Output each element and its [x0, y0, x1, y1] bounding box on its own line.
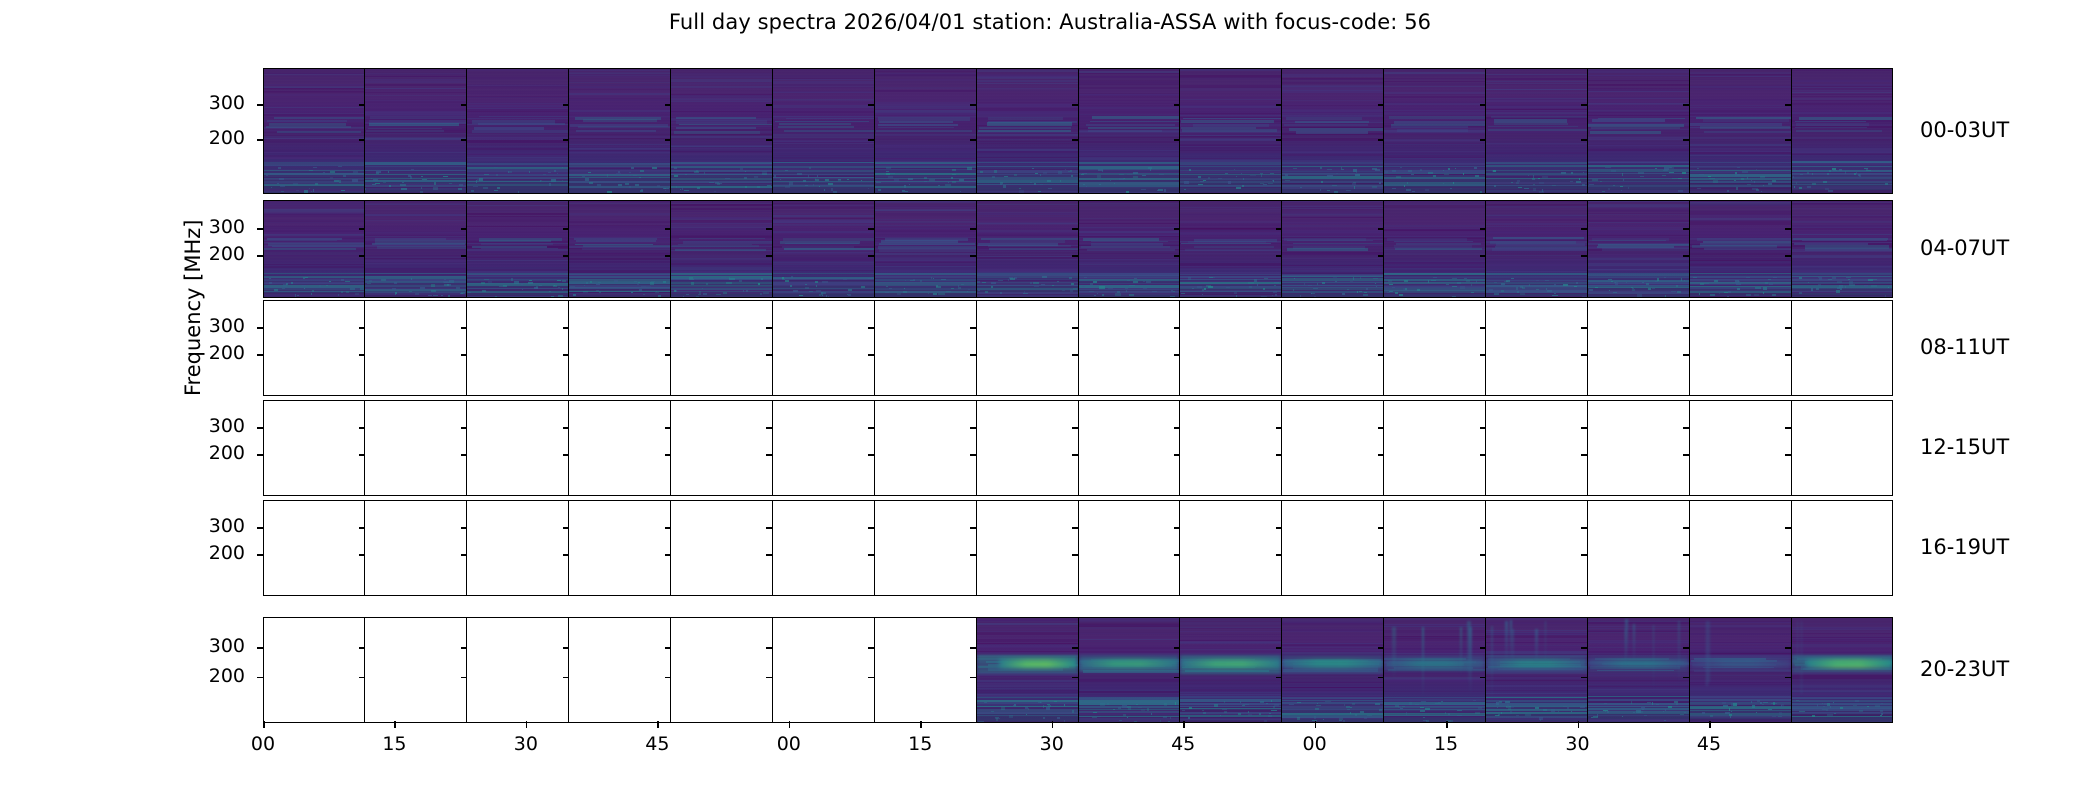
panel-boundary-y-tick	[563, 354, 569, 356]
spectrogram-panel[interactable]	[1079, 400, 1181, 496]
spectrogram-speckle	[1168, 721, 1170, 723]
spectrogram-panel[interactable]	[365, 500, 467, 596]
y-tick-label: 300	[185, 92, 245, 114]
spectrogram-speckle	[1554, 293, 1555, 295]
spectrogram-speckle	[1014, 704, 1016, 707]
spectrogram-speckle	[562, 180, 563, 181]
spectrogram-panel[interactable]	[1384, 200, 1486, 298]
spectrogram-background	[263, 68, 364, 194]
spectrogram-panel[interactable]	[1486, 68, 1588, 194]
spectrogram-speckle	[1308, 285, 1312, 286]
spectrogram-speckle	[822, 281, 827, 283]
spectrogram-speckle	[991, 711, 994, 712]
spectrogram-speckle	[1552, 295, 1557, 296]
spectrogram-panel[interactable]	[1282, 200, 1384, 298]
spectrogram-speckle	[1576, 282, 1577, 284]
spectrogram-panel[interactable]	[569, 617, 671, 723]
spectrogram-speckle	[1880, 710, 1883, 712]
x-tick-label: 00	[1290, 733, 1340, 755]
spectrogram-speckle	[1794, 186, 1795, 188]
spectrogram-speckle	[725, 178, 730, 179]
spectrogram-image	[1180, 68, 1281, 194]
spectrogram-speckle	[1505, 701, 1510, 704]
subplot-row-16-19ut[interactable]	[263, 500, 1893, 596]
spectrogram-speckle	[760, 293, 761, 295]
spectrogram-panel[interactable]	[1690, 68, 1792, 194]
spectrogram-panel[interactable]	[365, 300, 467, 396]
spectrogram-speckle	[495, 296, 497, 297]
spectrogram-image	[875, 200, 976, 298]
spectrogram-speckle	[372, 184, 376, 185]
spectrogram-speckle	[1054, 701, 1057, 702]
spectrogram-panel[interactable]	[977, 68, 1079, 194]
spectrogram-speckle	[1632, 288, 1634, 290]
spectrogram-panel[interactable]	[1588, 200, 1690, 298]
spectrogram-panel[interactable]	[1690, 300, 1792, 396]
spectrogram-speckle	[1392, 287, 1395, 288]
spectrogram-panel[interactable]	[977, 200, 1079, 298]
spectrogram-speckle	[1189, 169, 1191, 171]
spectrogram-speckle	[799, 295, 802, 296]
spectrogram-speckle	[952, 174, 956, 176]
spectrogram-speckle	[562, 280, 566, 282]
spectrogram-speckle	[1019, 188, 1021, 189]
spectrogram-panel[interactable]	[671, 200, 773, 298]
spectrogram-speckle	[1366, 288, 1368, 290]
spectrogram-speckle	[1236, 295, 1237, 297]
spectrogram-panel[interactable]	[467, 500, 569, 596]
panel-boundary-y-tick	[359, 255, 365, 257]
spectrogram-panel[interactable]	[773, 68, 875, 194]
spectrogram-speckle	[886, 171, 890, 172]
spectrogram-speckle	[1073, 288, 1077, 290]
spectrogram-panel[interactable]	[1079, 200, 1181, 298]
spectrogram-speckle	[1198, 184, 1203, 185]
spectrogram-speckle	[1082, 173, 1087, 175]
spectrogram-speckle	[1840, 288, 1842, 290]
spectrogram-panel[interactable]	[1792, 300, 1893, 396]
spectrogram-speckle	[1608, 279, 1612, 280]
spectrogram-panel[interactable]	[365, 400, 467, 496]
spectrogram-speckle	[1225, 173, 1228, 175]
spectrogram-panel[interactable]	[1079, 68, 1181, 194]
spectrogram-panel[interactable]	[1282, 617, 1384, 723]
spectrogram-speckle	[1311, 293, 1315, 294]
spectrogram-panel[interactable]	[1384, 400, 1486, 496]
spectrogram-panel[interactable]	[875, 68, 977, 194]
spectrogram-panel[interactable]	[263, 200, 365, 298]
spectrogram-panel[interactable]	[1079, 500, 1181, 596]
broadband-burst	[1510, 620, 1512, 662]
spectrogram-speckle	[1119, 720, 1122, 721]
spectrogram-speckle	[848, 294, 850, 295]
spectrogram-panel[interactable]	[1792, 200, 1893, 298]
spectrogram-speckle	[1697, 168, 1699, 169]
spectrogram-panel[interactable]	[1792, 68, 1893, 194]
spectrogram-speckle	[998, 280, 1003, 281]
spectrogram-speckle	[1756, 712, 1757, 713]
spectrogram-panel[interactable]	[773, 300, 875, 396]
spectrogram-speckle	[1633, 712, 1635, 714]
spectrogram-image	[1588, 200, 1689, 298]
subplot-row-04-07ut[interactable]	[263, 200, 1893, 298]
panel-boundary-y-tick	[1174, 139, 1180, 141]
spectrogram-speckle	[1355, 714, 1357, 716]
spectrogram-panel[interactable]	[1180, 400, 1282, 496]
spectrogram-panel[interactable]	[977, 300, 1079, 396]
spectrogram-speckle	[817, 175, 818, 176]
spectrogram-speckle	[1823, 706, 1825, 707]
spectrogram-panel[interactable]	[1792, 500, 1893, 596]
panel-boundary-y-tick	[1276, 427, 1282, 429]
spectrogram-speckle	[596, 284, 601, 285]
spectrogram-speckle	[461, 292, 465, 294]
spectrogram-speckle	[1327, 175, 1332, 177]
spectrogram-speckle	[375, 183, 379, 184]
panel-boundary-y-tick	[1174, 554, 1180, 556]
spectrogram-speckle	[1268, 715, 1272, 717]
spectrogram-speckle	[1261, 174, 1262, 177]
spectrogram-panel[interactable]	[1180, 500, 1282, 596]
panel-boundary-y-tick	[1378, 255, 1384, 257]
panel-boundary-y-tick	[1581, 104, 1587, 106]
y-tick-label: 200	[185, 127, 245, 149]
spectrogram-panel[interactable]	[1180, 68, 1282, 194]
spectrogram-panel[interactable]	[875, 200, 977, 298]
subplot-row-20-23ut[interactable]	[263, 617, 1893, 723]
spectrogram-speckle	[1408, 170, 1412, 172]
spectrogram-speckle	[1724, 292, 1728, 293]
spectrogram-panel[interactable]	[1690, 200, 1792, 298]
panel-boundary-y-tick	[766, 228, 772, 230]
spectrogram-speckle	[1200, 181, 1204, 182]
spectrogram-panel[interactable]	[569, 68, 671, 194]
spectrogram-panel[interactable]	[1282, 300, 1384, 396]
spectrogram-speckle	[1768, 279, 1770, 281]
spectrogram-speckle	[1811, 288, 1812, 291]
broadband-burst	[1392, 627, 1396, 680]
spectrogram-speckle	[1647, 702, 1651, 704]
spectrogram-speckle	[1510, 711, 1512, 713]
spectrogram-speckle	[763, 292, 768, 294]
spectrogram-speckle	[1222, 709, 1227, 711]
spectrogram-panel[interactable]	[977, 617, 1079, 723]
spectrogram-speckle	[1497, 707, 1498, 708]
spectrogram-speckle	[1236, 176, 1237, 177]
spectrogram-speckle	[889, 288, 893, 290]
spectrogram-speckle	[1032, 168, 1034, 170]
spectrogram-panel[interactable]	[1486, 500, 1588, 596]
spectrogram-panel[interactable]	[1282, 500, 1384, 596]
spectrogram-panel[interactable]	[977, 500, 1079, 596]
spectrogram-panel[interactable]	[977, 400, 1079, 496]
spectrogram-speckle	[326, 285, 328, 286]
spectrogram-speckle	[1602, 191, 1605, 192]
spectrogram-speckle	[1332, 185, 1337, 186]
spectrogram-panel[interactable]	[1588, 617, 1690, 723]
spectrogram-background	[365, 200, 466, 298]
panel-boundary-y-tick	[1683, 104, 1689, 106]
panel-boundary-y-tick	[970, 427, 976, 429]
spectrogram-speckle	[1159, 174, 1164, 175]
spectrogram-speckle	[1098, 169, 1103, 171]
spectrogram-speckle	[1146, 179, 1148, 180]
spectrogram-panel[interactable]	[263, 300, 365, 396]
spectrogram-panel[interactable]	[263, 400, 365, 496]
spectrogram-speckle	[1420, 707, 1423, 708]
spectrogram-speckle	[723, 292, 727, 294]
spectrogram-speckle	[709, 182, 714, 183]
spectrogram-panel[interactable]	[773, 617, 875, 723]
spectrogram-speckle	[746, 290, 748, 292]
spectrogram-speckle	[1614, 282, 1616, 283]
spectrogram-panel[interactable]	[467, 200, 569, 298]
spectrogram-speckle	[960, 191, 961, 192]
spectrogram-panel[interactable]	[671, 617, 773, 723]
spectrogram-panel[interactable]	[773, 200, 875, 298]
spectrogram-panel[interactable]	[1792, 400, 1893, 496]
spectrogram-background	[467, 68, 568, 194]
spectrogram-speckle	[1208, 286, 1213, 288]
spectrogram-panel[interactable]	[1282, 400, 1384, 496]
spectrogram-panel[interactable]	[365, 68, 467, 194]
x-tick-label: 00	[764, 733, 814, 755]
panel-boundary-y-tick	[461, 327, 467, 329]
subplot-row-00-03ut[interactable]	[263, 68, 1893, 194]
spectrogram-speckle	[1528, 175, 1530, 176]
spectrogram-speckle	[1376, 286, 1378, 288]
spectrogram-speckle	[1297, 702, 1302, 703]
spectrogram-speckle	[562, 288, 564, 291]
panel-boundary-y-tick	[970, 527, 976, 529]
spectrogram-panel[interactable]	[569, 300, 671, 396]
spectrogram-speckle	[1763, 292, 1764, 294]
spectrogram-panel[interactable]	[1180, 617, 1282, 723]
spectrogram-speckle	[1849, 284, 1855, 286]
spectrogram-speckle	[1710, 715, 1713, 716]
spectrogram-speckle	[1082, 700, 1085, 702]
spectrogram-panel[interactable]	[467, 617, 569, 723]
spectrogram-panel[interactable]	[365, 200, 467, 298]
spectrogram-speckle	[888, 176, 893, 178]
x-tick-mark	[789, 721, 791, 728]
spectrogram-panel[interactable]	[773, 400, 875, 496]
spectrogram-panel[interactable]	[1588, 68, 1690, 194]
spectrogram-speckle	[599, 291, 601, 293]
spectrogram-speckle	[1013, 705, 1014, 707]
spectrogram-speckle	[1501, 283, 1505, 285]
panel-boundary-y-tick	[970, 139, 976, 141]
spectrogram-speckle	[1644, 715, 1647, 717]
spectrogram-speckle	[652, 167, 657, 168]
panel-boundary-y-tick	[1276, 228, 1282, 230]
spectrogram-speckle	[1274, 704, 1279, 706]
spectrogram-speckle	[330, 171, 336, 173]
spectrogram-panel[interactable]	[1079, 617, 1181, 723]
spectrogram-panel[interactable]	[1690, 617, 1792, 723]
spectrogram-background	[1792, 200, 1893, 298]
spectrogram-panel[interactable]	[1384, 68, 1486, 194]
spectrogram-panel[interactable]	[1486, 300, 1588, 396]
spectrogram-panel[interactable]	[1588, 500, 1690, 596]
panel-boundary-y-tick	[563, 677, 569, 679]
spectrogram-speckle	[991, 282, 996, 284]
panel-boundary-y-tick	[1683, 647, 1689, 649]
spectrogram-panel[interactable]	[1486, 400, 1588, 496]
spectrogram-speckle	[1117, 291, 1120, 293]
spectrogram-speckle	[951, 177, 952, 179]
spectrogram-speckle	[813, 184, 814, 186]
spectrogram-speckle	[1254, 279, 1257, 281]
panel-boundary-y-tick	[868, 255, 874, 257]
spectrogram-speckle	[311, 191, 313, 192]
spectrogram-speckle	[1826, 710, 1829, 711]
spectrogram-speckle	[1836, 290, 1840, 292]
spectrogram-speckle	[1741, 178, 1743, 180]
panel-boundary-y-tick	[1480, 427, 1486, 429]
spectrogram-speckle	[1170, 717, 1171, 719]
spectrogram-speckle	[1681, 278, 1682, 281]
spectrogram-speckle	[684, 190, 690, 191]
spectrogram-speckle	[1825, 188, 1829, 190]
spectrogram-speckle	[1657, 278, 1660, 281]
spectrogram-speckle	[698, 294, 701, 296]
spectrogram-speckle	[529, 280, 532, 281]
spectrogram-speckle	[1043, 172, 1047, 174]
spectrogram-speckle	[995, 717, 999, 718]
spectrogram-speckle	[1522, 287, 1526, 289]
panel-boundary-y-tick	[970, 554, 976, 556]
spectrogram-panel[interactable]	[875, 400, 977, 496]
spectrogram-panel[interactable]	[671, 300, 773, 396]
spectrogram-panel[interactable]	[1588, 400, 1690, 496]
spectrogram-speckle	[1327, 190, 1331, 191]
spectrogram-panel[interactable]	[1486, 617, 1588, 723]
spectrogram-panel[interactable]	[263, 68, 365, 194]
spectrogram-panel[interactable]	[1486, 200, 1588, 298]
spectrogram-speckle	[1543, 709, 1547, 711]
y-tick-label: 200	[185, 442, 245, 464]
spectrogram-speckle	[1682, 172, 1686, 174]
spectrogram-speckle	[1593, 716, 1598, 718]
panel-strip	[263, 68, 1893, 194]
spectrogram-speckle	[1730, 716, 1731, 718]
panel-boundary-y-tick	[868, 454, 874, 456]
spectrogram-speckle	[634, 281, 637, 282]
spectrogram-panel[interactable]	[875, 300, 977, 396]
spectrogram-panel[interactable]	[569, 400, 671, 496]
spectrogram-speckle	[1576, 181, 1581, 183]
spectrogram-speckle	[1533, 184, 1536, 185]
spectrogram-speckle	[1266, 703, 1268, 704]
spectrogram-panel[interactable]	[671, 68, 773, 194]
spectrogram-panel[interactable]	[671, 400, 773, 496]
spectrogram-speckle	[1773, 277, 1777, 279]
spectrogram-background	[1690, 617, 1791, 723]
panel-boundary-y-tick	[1480, 139, 1486, 141]
spectrogram-speckle	[334, 180, 339, 181]
spectrogram-speckle	[1735, 174, 1740, 176]
spectrogram-panel[interactable]	[1690, 500, 1792, 596]
spectrogram-panel[interactable]	[467, 400, 569, 496]
spectrogram-speckle	[758, 283, 760, 285]
spectrogram-panel[interactable]	[671, 500, 773, 596]
panel-boundary-y-tick	[563, 255, 569, 257]
spectrogram-panel[interactable]	[1690, 400, 1792, 496]
spectrogram-speckle	[1680, 714, 1685, 716]
spectrogram-panel[interactable]	[263, 500, 365, 596]
spectrogram-speckle	[1275, 294, 1277, 296]
spectrogram-speckle	[646, 286, 651, 287]
spectrogram-panel[interactable]	[875, 500, 977, 596]
spectrogram-panel[interactable]	[1588, 300, 1690, 396]
panel-boundary-y-tick	[1785, 427, 1791, 429]
spectrogram-panel[interactable]	[1180, 300, 1282, 396]
spectrogram-panel[interactable]	[1079, 300, 1181, 396]
panel-boundary-y-tick	[461, 139, 467, 141]
spectrogram-panel[interactable]	[1384, 617, 1486, 723]
spectrogram-speckle	[1170, 296, 1175, 298]
spectrogram-speckle	[1840, 707, 1843, 710]
spectrogram-speckle	[1457, 710, 1463, 711]
subplot-row-12-15ut[interactable]	[263, 400, 1893, 496]
spectrogram-speckle	[1729, 708, 1730, 710]
spectrogram-speckle	[389, 185, 391, 187]
spectrogram-panel[interactable]	[773, 500, 875, 596]
spectrogram-speckle	[1127, 706, 1131, 708]
spectrogram-speckle	[1072, 710, 1074, 712]
spectrogram-speckle	[315, 183, 317, 185]
spectrogram-speckle	[1778, 716, 1782, 717]
spectrogram-panel[interactable]	[365, 617, 467, 723]
spectrogram-panel[interactable]	[569, 500, 671, 596]
spectrogram-panel[interactable]	[875, 617, 977, 723]
spectrogram-panel[interactable]	[467, 300, 569, 396]
spectrogram-speckle	[402, 182, 404, 184]
panel-boundary-y-tick	[359, 647, 365, 649]
spectrogram-image	[773, 68, 874, 194]
spectrogram-image	[875, 68, 976, 194]
spectrogram-background	[365, 68, 466, 194]
panel-boundary-y-tick	[1072, 454, 1078, 456]
spectrogram-speckle	[345, 281, 351, 282]
spectrogram-panel[interactable]	[467, 68, 569, 194]
spectrogram-speckle	[293, 183, 298, 184]
spectrogram-panel[interactable]	[1282, 68, 1384, 194]
spectrogram-speckle	[558, 295, 562, 296]
spectrogram-speckle	[1580, 706, 1585, 708]
spectrogram-speckle	[1704, 283, 1710, 285]
spectrogram-speckle	[1755, 287, 1761, 289]
spectrogram-speckle	[1068, 171, 1070, 172]
spectrogram-panel[interactable]	[569, 200, 671, 298]
spectrogram-speckle	[458, 188, 461, 189]
subplot-row-08-11ut[interactable]	[263, 300, 1893, 396]
spectrogram-speckle	[1048, 188, 1052, 189]
panel-boundary-y-tick	[1378, 228, 1384, 230]
spectrogram-panel[interactable]	[1384, 500, 1486, 596]
spectrogram-speckle	[420, 287, 425, 289]
panel-boundary-y-tick	[1174, 454, 1180, 456]
spectrogram-panel[interactable]	[1792, 617, 1893, 723]
spectrogram-speckle	[629, 175, 631, 177]
spectrogram-image	[977, 200, 1078, 298]
spectrogram-speckle	[1480, 191, 1482, 193]
spectrogram-panel[interactable]	[263, 617, 365, 723]
spectrogram-panel[interactable]	[1180, 200, 1282, 298]
spectrogram-panel[interactable]	[1384, 300, 1486, 396]
spectrogram-speckle	[904, 185, 905, 188]
